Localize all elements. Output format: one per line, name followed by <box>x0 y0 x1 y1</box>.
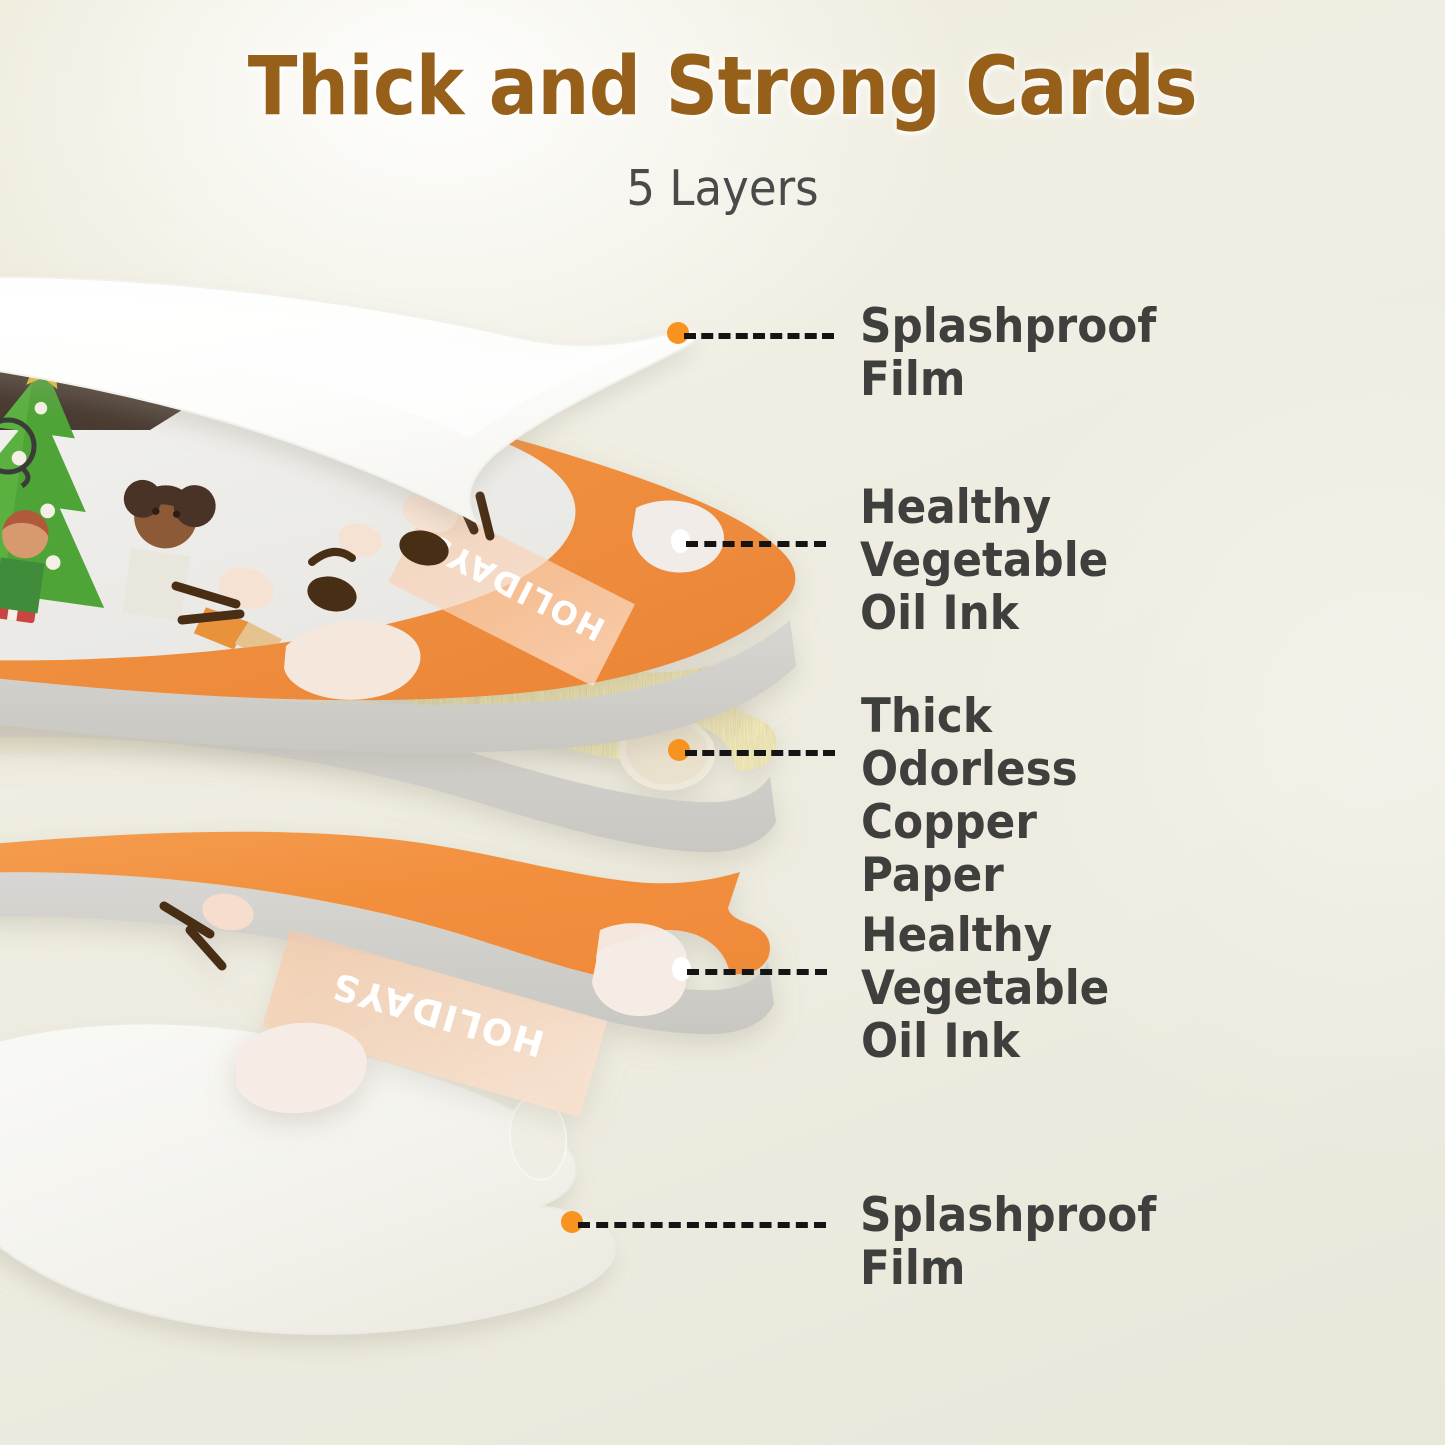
connector-dash-line <box>687 969 827 975</box>
callout-label-5: Splashproof Film <box>860 1189 1156 1295</box>
page-subtitle: 5 Layers <box>58 160 1387 217</box>
connector-dash-line <box>684 333 834 339</box>
infographic-canvas: HOLIDAYS <box>0 0 1445 1445</box>
connector-dash-line <box>686 541 826 547</box>
connector-dash-line <box>578 1222 826 1228</box>
page-title: Thick and Strong Cards <box>72 40 1373 134</box>
connector-dash-line <box>685 750 835 756</box>
callout-label-1: Splashproof Film <box>860 300 1156 406</box>
callout-label-4: Healthy Vegetable Oil Ink <box>861 909 1109 1068</box>
callout-label-3: Thick Odorless Copper Paper <box>861 690 1078 902</box>
callout-label-2: Healthy Vegetable Oil Ink <box>860 481 1108 640</box>
